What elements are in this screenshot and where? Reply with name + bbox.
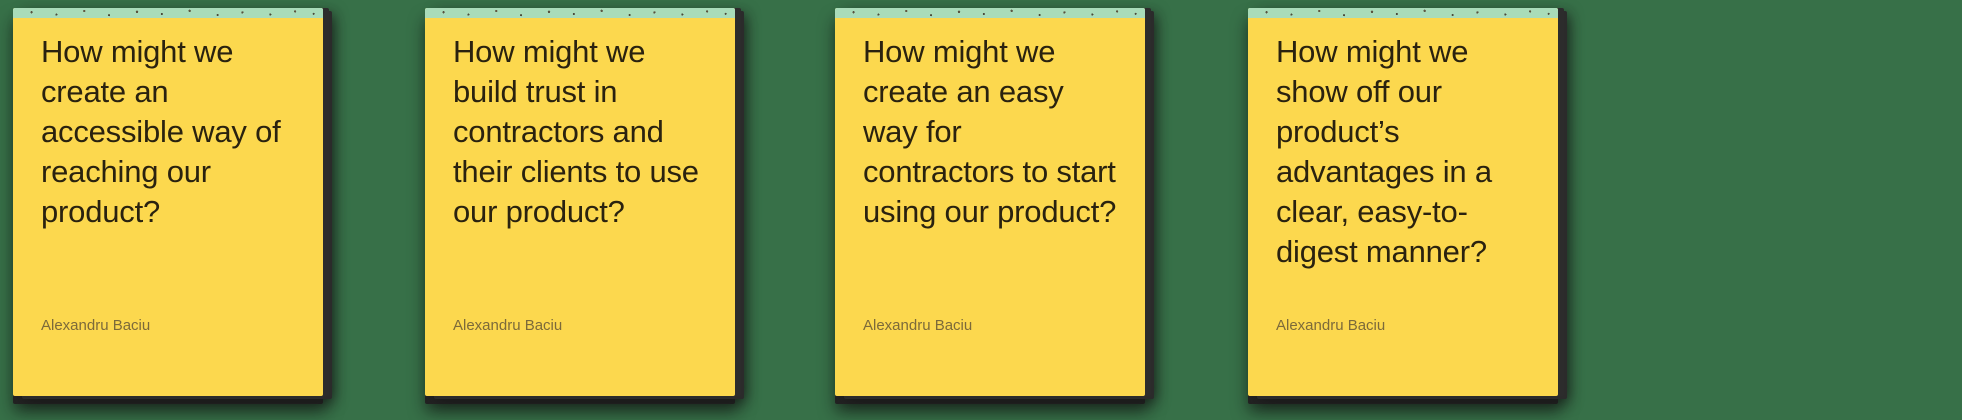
card-author: Alexandru Baciu — [41, 316, 295, 336]
card-top-strip — [835, 8, 1145, 18]
card-author: Alexandru Baciu — [863, 316, 1117, 336]
card-spacer — [1276, 272, 1530, 316]
card-top-strip — [425, 8, 735, 18]
card-heading: How might we show off our product’s adva… — [1276, 32, 1530, 272]
card-body: How might we create an easy way for cont… — [835, 18, 1145, 396]
sticky-note-card[interactable]: How might we create an accessible way of… — [13, 8, 323, 396]
card-spacer — [453, 232, 707, 316]
card-heading: How might we create an easy way for cont… — [863, 32, 1117, 232]
card-body: How might we create an accessible way of… — [13, 18, 323, 396]
sticky-note-card[interactable]: How might we build trust in contractors … — [425, 8, 735, 396]
sticky-note-card[interactable]: How might we show off our product’s adva… — [1248, 8, 1558, 396]
card-author: Alexandru Baciu — [1276, 316, 1530, 336]
card-author: Alexandru Baciu — [453, 316, 707, 336]
sticky-note-board: How might we create an accessible way of… — [0, 0, 1962, 420]
card-body: How might we build trust in contractors … — [425, 18, 735, 396]
card-spacer — [41, 232, 295, 316]
card-spacer — [863, 232, 1117, 316]
card-heading: How might we build trust in contractors … — [453, 32, 707, 232]
sticky-note-card[interactable]: How might we create an easy way for cont… — [835, 8, 1145, 396]
card-body: How might we show off our product’s adva… — [1248, 18, 1558, 396]
card-top-strip — [13, 8, 323, 18]
card-heading: How might we create an accessible way of… — [41, 32, 295, 232]
card-top-strip — [1248, 8, 1558, 18]
